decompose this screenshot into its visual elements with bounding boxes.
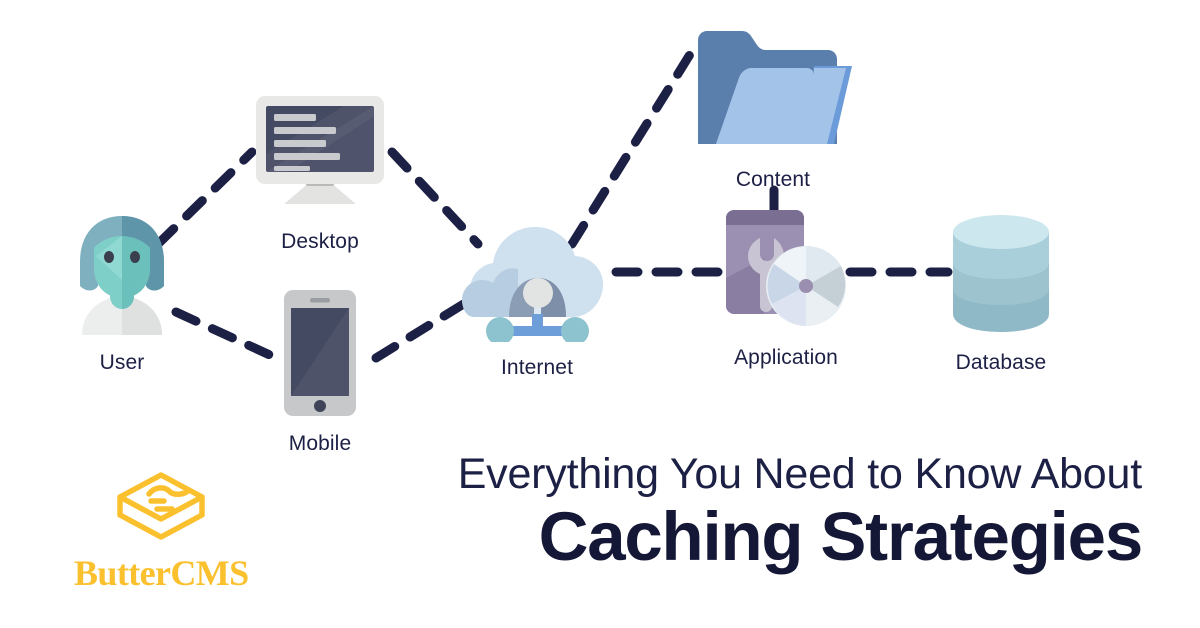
node-label-desktop: Desktop (281, 231, 359, 252)
connector-mobile-internet (376, 300, 470, 358)
buttercms-logo[interactable]: ButterCMS (74, 470, 249, 591)
network-node-top-icon (523, 278, 553, 308)
buttercms-logo-text: ButterCMS (74, 555, 249, 591)
node-desktop[interactable]: Desktop (248, 94, 392, 252)
eye-left-icon (104, 251, 114, 263)
eye-right-icon (130, 251, 140, 263)
screen-text-line (274, 127, 336, 134)
title-line-2: Caching Strategies (458, 500, 1142, 575)
cloud-network-icon (462, 222, 612, 347)
poster-canvas: User Desktop (0, 0, 1200, 628)
desktop-monitor-icon (248, 94, 392, 221)
screen-text-line (274, 140, 326, 147)
node-label-database: Database (956, 352, 1047, 373)
screen-text-line (274, 153, 340, 160)
disc-icon (766, 246, 846, 326)
node-mobile[interactable]: Mobile (278, 288, 362, 454)
node-label-mobile: Mobile (289, 433, 351, 454)
node-user[interactable]: User (62, 210, 182, 373)
node-label-internet: Internet (501, 357, 573, 378)
node-internet[interactable]: Internet (462, 222, 612, 378)
node-label-application: Application (734, 347, 838, 368)
title-line-1: Everything You Need to Know About (458, 452, 1142, 498)
title-block: Everything You Need to Know About Cachin… (458, 452, 1142, 574)
folder-icon (694, 26, 852, 159)
network-node-right-icon (561, 317, 589, 342)
database-cylinder-icon (948, 212, 1054, 339)
butter-stick-icon (116, 470, 206, 549)
phone-speaker-icon (310, 298, 330, 303)
screen-text-line (274, 166, 310, 171)
node-application[interactable]: Application (722, 208, 850, 368)
mobile-phone-icon (278, 288, 362, 423)
node-content[interactable]: Content (694, 26, 852, 190)
application-wrench-disc-icon (722, 208, 850, 335)
connector-user-mobile (176, 312, 272, 356)
user-avatar-icon (62, 210, 182, 340)
phone-home-button-icon (314, 400, 326, 412)
connector-internet-content (572, 48, 694, 244)
screen-text-line (274, 114, 316, 121)
node-label-content: Content (736, 169, 810, 190)
node-database[interactable]: Database (948, 212, 1054, 373)
node-label-user: User (100, 352, 145, 373)
network-node-left-icon (486, 317, 514, 342)
